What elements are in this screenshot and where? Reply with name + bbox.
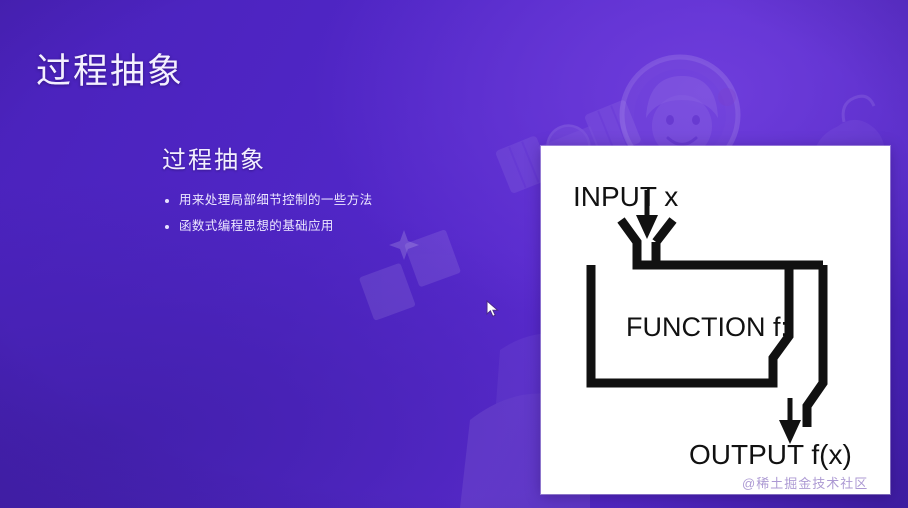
function-box-outline — [591, 220, 789, 383]
watermark: @稀土掘金技术社区 — [742, 473, 868, 492]
mouse-cursor-icon — [486, 300, 500, 318]
function-flow-diagram: INPUT x FUNCTION f: OUTPUT f(x) — [541, 146, 890, 494]
diagram-panel: INPUT x FUNCTION f: OUTPUT f(x) — [541, 146, 890, 494]
output-arrow-icon — [779, 398, 801, 444]
bullet-list: 用来处理局部细节控制的一些方法 函数式编程思想的基础应用 — [162, 191, 482, 237]
slide-screenshot: 过程抽象 过程抽象 用来处理局部细节控制的一些方法 函数式编程思想的基础应用 — [0, 0, 908, 508]
page-title: 过程抽象 — [36, 52, 184, 92]
content-block: 过程抽象 用来处理局部细节控制的一些方法 函数式编程思想的基础应用 — [162, 140, 482, 244]
input-funnel-right-slope — [656, 220, 673, 242]
output-label: OUTPUT f(x) — [689, 439, 852, 470]
content-heading: 过程抽象 — [162, 140, 482, 175]
input-label: INPUT x — [573, 181, 678, 212]
function-label: FUNCTION f: — [626, 312, 788, 342]
function-box-right-and-output-funnel — [807, 265, 823, 427]
list-item: 函数式编程思想的基础应用 — [162, 217, 482, 236]
list-item: 用来处理局部细节控制的一些方法 — [162, 191, 482, 210]
